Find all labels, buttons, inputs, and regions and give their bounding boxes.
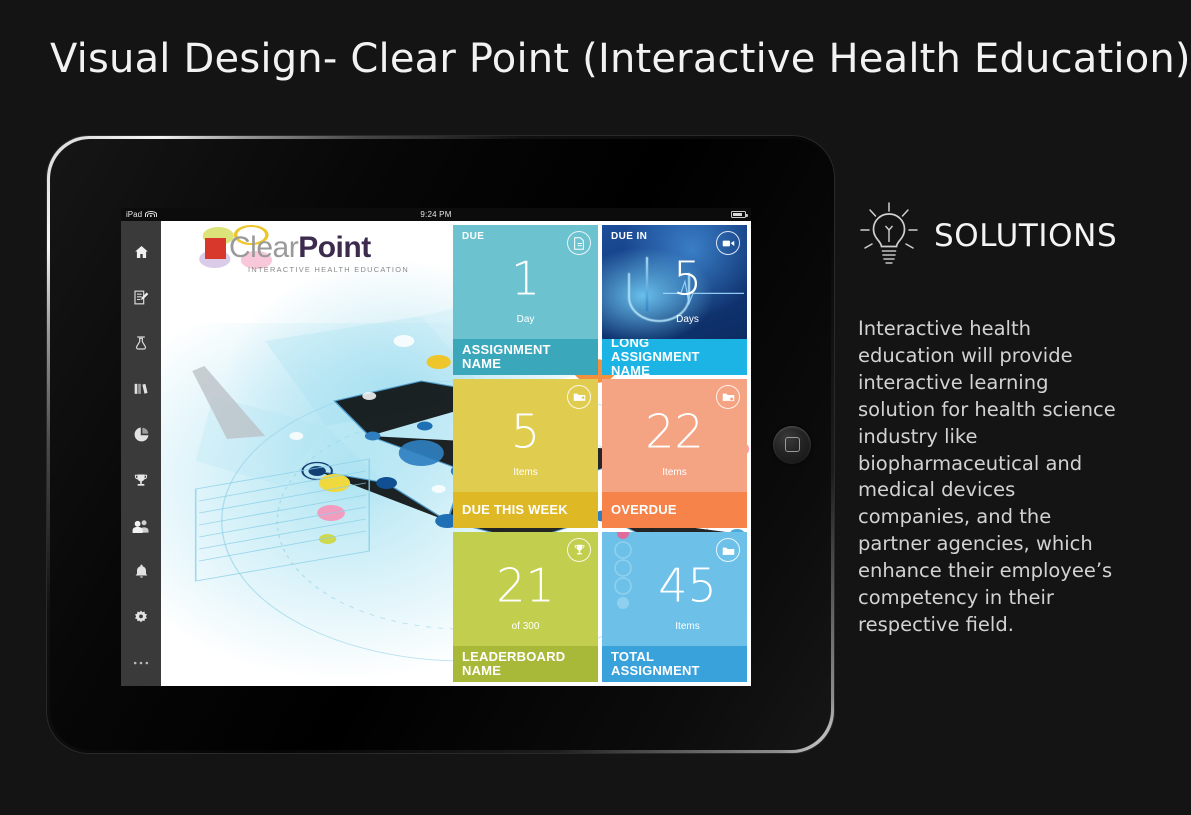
notes-edit-icon bbox=[133, 289, 149, 306]
tile-total-assignments[interactable]: 45 Items TOTAL ASSIGNMENT bbox=[602, 532, 747, 682]
home-button[interactable] bbox=[773, 426, 811, 464]
folder-icon bbox=[716, 538, 740, 562]
tile-footer-label: OVERDUE bbox=[611, 503, 677, 517]
tile-overdue[interactable]: 22 Items OVERDUE bbox=[602, 379, 747, 529]
people-icon bbox=[132, 519, 150, 534]
solutions-body: Interactive health education will provid… bbox=[858, 316, 1126, 639]
gear-icon bbox=[133, 609, 149, 625]
tile-row-1: DUE 1 Day bbox=[453, 225, 747, 375]
tile-due[interactable]: DUE 1 Day bbox=[453, 225, 598, 375]
slide-root: Visual Design- Clear Point (Interactive … bbox=[0, 0, 1191, 815]
sidebar-item-assignments[interactable] bbox=[121, 275, 161, 321]
tile-footer-label: TOTAL ASSIGNMENT bbox=[611, 650, 738, 678]
tile-leaderboard[interactable]: 21 of 300 LEADERBOARD NAME bbox=[453, 532, 598, 682]
logo-mark bbox=[205, 238, 226, 259]
tile-due-in[interactable]: DUE IN 5 Days bbox=[602, 225, 747, 375]
tile-value: 1 bbox=[453, 255, 598, 301]
tile-footer-label: ASSIGNMENT NAME bbox=[462, 343, 589, 371]
flask-timer-icon bbox=[133, 334, 149, 352]
home-square-icon bbox=[785, 437, 800, 452]
app-content: ClearPoint INTERACTIVE HEALTH EDUCATION … bbox=[161, 221, 751, 686]
sidebar-item-reports[interactable] bbox=[121, 412, 161, 458]
tile-value: 22 bbox=[602, 409, 747, 455]
tile-value: 21 bbox=[453, 562, 598, 608]
document-icon bbox=[567, 231, 591, 255]
tile-due-this-week[interactable]: 5 Items DUE THIS WEEK bbox=[453, 379, 598, 529]
pie-chart-icon bbox=[133, 426, 150, 443]
logo-name-part1: Clear bbox=[229, 231, 298, 264]
page-title: Visual Design- Clear Point (Interactive … bbox=[50, 36, 1110, 82]
battery-icon bbox=[731, 211, 746, 218]
tile-footer-label: LEADERBOARD NAME bbox=[462, 650, 589, 678]
status-bar: iPad 9:24 PM bbox=[121, 208, 751, 221]
sidebar-item-leaderboard[interactable] bbox=[121, 458, 161, 504]
books-icon bbox=[133, 380, 149, 397]
tile-kicker: DUE bbox=[462, 231, 484, 242]
tablet-device: iPad 9:24 PM bbox=[47, 136, 834, 753]
tile-value: 5 bbox=[602, 255, 747, 301]
tile-unit: Items bbox=[453, 467, 598, 478]
tile-row-2: 5 Items DUE THIS WEEK bbox=[453, 379, 747, 529]
tile-kicker: DUE IN bbox=[611, 231, 647, 242]
solutions-header: SOLUTIONS bbox=[858, 200, 1158, 272]
app-root: ClearPoint INTERACTIVE HEALTH EDUCATION … bbox=[121, 221, 751, 686]
solutions-panel: SOLUTIONS Interactive health education w… bbox=[858, 200, 1158, 639]
dashboard-tiles: DUE 1 Day bbox=[453, 221, 751, 686]
folder-video-icon bbox=[567, 385, 591, 409]
tile-unit: Items bbox=[602, 467, 747, 478]
sidebar-item-home[interactable] bbox=[121, 229, 161, 275]
tile-value: 45 bbox=[602, 562, 747, 608]
tablet-body: iPad 9:24 PM bbox=[50, 139, 831, 750]
tile-footer-label: DUE THIS WEEK bbox=[462, 503, 568, 517]
solutions-paragraph: Interactive health education will provid… bbox=[858, 316, 1126, 639]
tablet-screen: iPad 9:24 PM bbox=[121, 208, 751, 686]
sidebar-item-groups[interactable] bbox=[121, 503, 161, 549]
tile-unit: of 300 bbox=[453, 621, 598, 632]
video-camera-icon bbox=[716, 231, 740, 255]
tile-row-3: 21 of 300 LEADERBOARD NAME bbox=[453, 532, 747, 682]
tile-unit: Days bbox=[602, 314, 747, 325]
home-icon bbox=[133, 244, 150, 260]
tile-unit: Day bbox=[453, 314, 598, 325]
sidebar-item-library[interactable] bbox=[121, 366, 161, 412]
app-sidebar bbox=[121, 221, 161, 686]
logo-tagline: INTERACTIVE HEALTH EDUCATION bbox=[248, 265, 409, 274]
sidebar-item-notifications[interactable] bbox=[121, 549, 161, 595]
folder-clock-icon bbox=[716, 385, 740, 409]
sidebar-item-settings[interactable] bbox=[121, 595, 161, 641]
tile-unit: Items bbox=[602, 621, 747, 632]
trophy-icon bbox=[567, 538, 591, 562]
logo-name-part2: Point bbox=[298, 231, 371, 264]
sidebar-item-more[interactable] bbox=[121, 640, 161, 686]
status-time: 9:24 PM bbox=[121, 210, 751, 219]
more-dots-icon bbox=[133, 660, 149, 666]
lightbulb-icon bbox=[858, 200, 920, 272]
trophy-icon bbox=[133, 472, 149, 489]
bell-icon bbox=[134, 563, 149, 580]
sidebar-item-labs[interactable] bbox=[121, 320, 161, 366]
solutions-heading: SOLUTIONS bbox=[934, 218, 1117, 254]
tile-value: 5 bbox=[453, 409, 598, 455]
tile-footer-label: LONG ASSIGNMENT NAME bbox=[611, 336, 738, 375]
app-logo: ClearPoint INTERACTIVE HEALTH EDUCATION bbox=[205, 233, 409, 274]
